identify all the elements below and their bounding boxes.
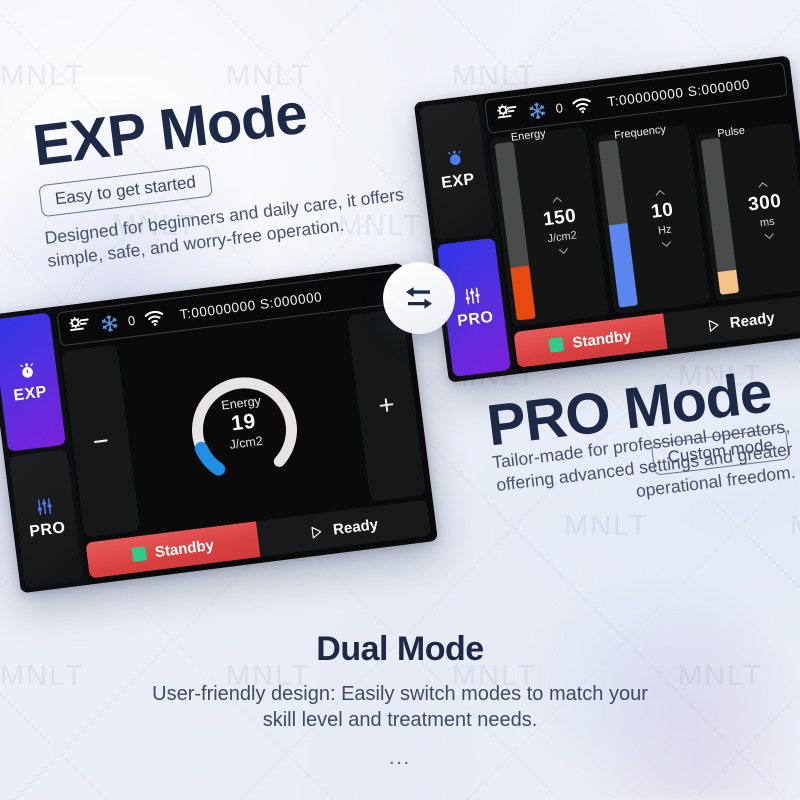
gauge-readout: Energy 19 J/cm2 — [173, 353, 314, 494]
stopwatch-icon — [444, 147, 466, 169]
sidebar-item-pro-label: PRO — [28, 519, 66, 541]
pro-device-screen: EXP PRO — [414, 55, 800, 382]
footer-title: Dual Mode — [0, 630, 800, 669]
swap-mode-button[interactable] — [383, 262, 455, 334]
slider-value: 150 — [542, 205, 578, 231]
sidebar-item-exp-label: EXP — [13, 383, 49, 405]
ready-label: Ready — [729, 309, 776, 332]
standby-label: Standby — [571, 327, 632, 351]
chevron-down-icon[interactable] — [555, 244, 572, 258]
slider-card-pulse: Pulse300ms — [695, 123, 800, 302]
stop-square-icon — [549, 337, 565, 353]
ready-label: Ready — [332, 516, 379, 539]
brand-watermark: MNLT — [790, 510, 800, 543]
gauge-unit: J/cm2 — [229, 434, 264, 452]
snowflake-icon — [99, 312, 120, 333]
pro-counter: T:00000000 S:000000 — [606, 76, 750, 109]
wifi-icon — [143, 306, 166, 329]
footer-ellipsis: ... — [0, 748, 800, 770]
minus-icon — [88, 429, 113, 454]
sidebar-item-exp-label: EXP — [440, 171, 476, 193]
snowflake-icon — [527, 100, 548, 121]
standby-label: Standby — [154, 536, 215, 560]
exp-counter: T:00000000 S:000000 — [179, 289, 323, 322]
brand-watermark: MNLT — [0, 60, 85, 93]
page-root: MNLTMNLTMNLTMNLTMNLTMNLTMNLTMNLTMNLTMNLT… — [0, 0, 800, 800]
settings-sliders-icon[interactable] — [68, 314, 93, 339]
sidebar-item-exp[interactable]: EXP — [419, 100, 493, 240]
slider-unit: Hz — [657, 223, 672, 237]
footer-subtitle-line-2: skill level and treatment needs. — [0, 707, 800, 733]
slider-unit: J/cm2 — [547, 229, 578, 245]
exp-cooling-value: 0 — [127, 312, 136, 328]
swap-horizontal-icon — [399, 278, 439, 318]
wifi-icon — [570, 93, 593, 116]
energy-gauge[interactable]: Energy 19 J/cm2 — [173, 353, 314, 494]
sliders-icon — [33, 496, 55, 518]
sidebar-item-pro[interactable]: PRO — [9, 449, 83, 588]
chevron-down-icon[interactable] — [658, 237, 675, 251]
play-triangle-icon — [308, 523, 325, 540]
settings-sliders-icon[interactable] — [496, 102, 521, 127]
chevron-up-icon[interactable] — [651, 185, 668, 199]
slider-readout: 300ms — [725, 129, 800, 292]
chevron-up-icon[interactable] — [549, 193, 566, 207]
slider-value: 300 — [747, 191, 783, 217]
chevron-up-icon[interactable] — [754, 178, 771, 192]
slider-fill — [718, 269, 740, 295]
sliders-icon — [461, 285, 483, 307]
exp-control-body: Energy 19 J/cm2 — [61, 308, 426, 538]
play-triangle-icon — [705, 317, 722, 334]
sidebar-item-pro-label: PRO — [456, 308, 494, 330]
chevron-down-icon[interactable] — [760, 229, 777, 243]
exp-device-screen: EXP PRO — [0, 263, 438, 593]
pro-main-area: 0 T:00000000 S:000000 Energy150J/cm2Freq… — [481, 55, 800, 374]
slider-unit: ms — [759, 216, 775, 230]
plus-icon — [374, 393, 399, 418]
footer-subtitle-line-1: User-friendly design: Easily switch mode… — [0, 681, 800, 707]
stop-square-icon — [131, 546, 147, 562]
slider-card-energy: Energy150J/cm2 — [489, 127, 609, 328]
stopwatch-icon — [16, 359, 38, 381]
slider-value: 10 — [650, 199, 675, 224]
energy-gauge-wrap: Energy 19 J/cm2 — [123, 316, 365, 530]
slider-card-frequency: Frequency10Hz — [592, 125, 710, 315]
brand-watermark: MNLT — [564, 510, 649, 543]
pro-cooling-value: 0 — [555, 100, 564, 116]
pro-slider-row: Energy150J/cm2Frequency10HzPulse300ms — [489, 101, 800, 327]
footer-block: Dual Mode User-friendly design: Easily s… — [0, 630, 800, 770]
slider-fill — [510, 265, 536, 320]
exp-main-area: 0 T:00000000 S:000000 — [54, 263, 438, 585]
gauge-label: Energy — [221, 394, 262, 413]
gauge-value: 19 — [230, 410, 257, 437]
